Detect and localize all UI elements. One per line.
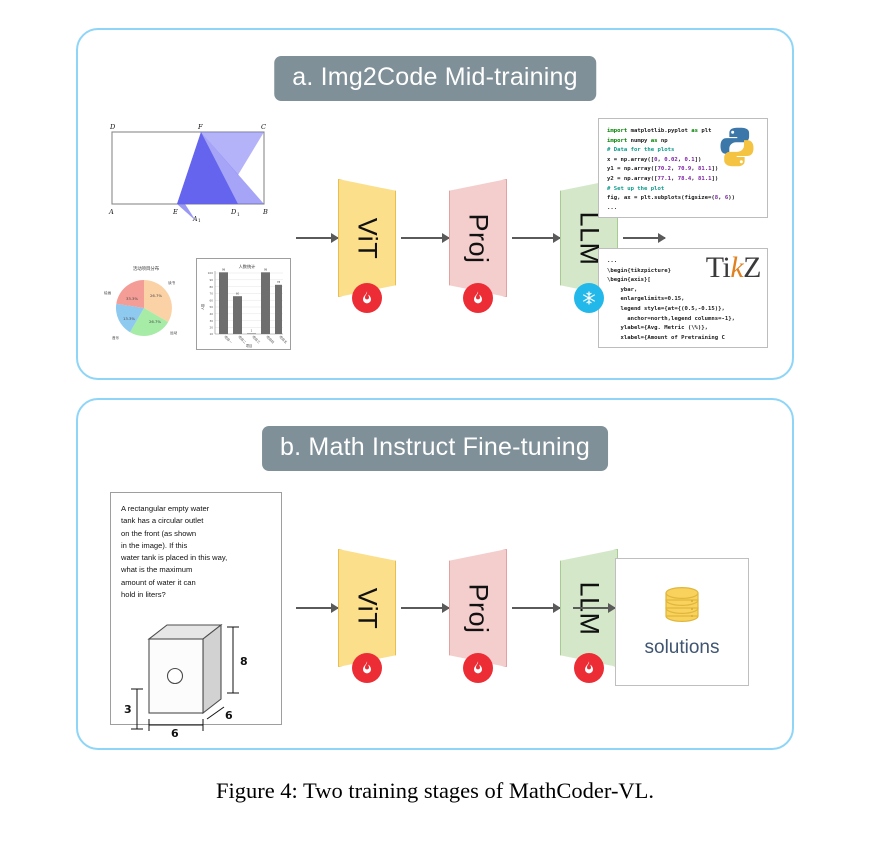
svg-text:98: 98 bbox=[222, 268, 226, 272]
svg-text:10: 10 bbox=[209, 332, 213, 336]
arrow-input-to-vit-b bbox=[296, 607, 338, 609]
block-proj-a: Proj bbox=[449, 179, 507, 297]
tikz-logo-icon: TikZ bbox=[706, 251, 761, 285]
fire-icon bbox=[352, 653, 382, 683]
bar-chart-svg: 人数统计 98 60 1 98 78 10 bbox=[197, 259, 290, 349]
svg-text:6: 6 bbox=[225, 709, 233, 722]
svg-text:绘画: 绘画 bbox=[104, 290, 112, 295]
svg-text:E: E bbox=[172, 208, 178, 216]
svg-text:6: 6 bbox=[171, 727, 179, 737]
python-logo-icon bbox=[715, 125, 759, 169]
svg-text:A: A bbox=[108, 208, 114, 216]
arrow-llm-to-output-a bbox=[623, 237, 665, 239]
svg-text:D: D bbox=[109, 123, 116, 131]
svg-text:项目五: 项目五 bbox=[278, 335, 288, 345]
svg-text:项目一: 项目一 bbox=[223, 335, 233, 345]
svg-text:1: 1 bbox=[198, 218, 201, 222]
svg-text:D: D bbox=[230, 208, 237, 216]
fire-glyph bbox=[359, 660, 375, 676]
snowflake-icon bbox=[574, 283, 604, 313]
svg-text:音乐: 音乐 bbox=[112, 335, 120, 340]
fire-icon bbox=[352, 283, 382, 313]
svg-text:98: 98 bbox=[264, 268, 268, 272]
svg-text:运动: 运动 bbox=[170, 330, 178, 335]
pie-chart: 活动项目分布 26.7% 26.7% 13.3% 33.3% 读书 运动 音乐 … bbox=[100, 258, 192, 350]
bar-chart: 人数统计 98 60 1 98 78 10 bbox=[196, 258, 291, 350]
panel-b-title: b. Math Instruct Fine-tuning bbox=[262, 426, 608, 471]
svg-text:人数: 人数 bbox=[200, 303, 205, 310]
arrow-proj-to-llm-b bbox=[512, 607, 560, 609]
figure-caption: Figure 4: Two training stages of MathCod… bbox=[0, 778, 870, 804]
svg-text:60: 60 bbox=[236, 291, 240, 295]
panel-a-title: a. Img2Code Mid-training bbox=[274, 56, 596, 101]
svg-text:8: 8 bbox=[240, 655, 248, 668]
svg-text:78: 78 bbox=[277, 280, 281, 284]
vit-label-b: ViT bbox=[338, 549, 396, 667]
solutions-output-box: solutions bbox=[615, 558, 749, 686]
svg-text:80: 80 bbox=[209, 285, 213, 289]
svg-text:C: C bbox=[261, 123, 266, 131]
geometry-diagram: D F C A E D 1 B A 1 bbox=[100, 120, 278, 222]
svg-text:70: 70 bbox=[209, 292, 213, 296]
svg-text:26.7%: 26.7% bbox=[150, 293, 162, 298]
arrow-input-to-vit-a bbox=[296, 237, 338, 239]
fire-glyph bbox=[359, 290, 375, 306]
math-question-text: A rectangular empty water tank has a cir… bbox=[121, 503, 273, 601]
tikz-code-card: TikZ ... \begin{tikzpicture} \begin{axis… bbox=[598, 248, 768, 348]
svg-text:50: 50 bbox=[209, 305, 213, 309]
svg-text:100: 100 bbox=[208, 271, 214, 275]
pie-chart-svg: 活动项目分布 26.7% 26.7% 13.3% 33.3% 读书 运动 音乐 … bbox=[100, 258, 192, 350]
solutions-label: solutions bbox=[645, 637, 720, 659]
water-tank-figure: 8 3 6 6 bbox=[121, 607, 271, 737]
svg-text:项目三: 项目三 bbox=[251, 335, 261, 345]
svg-text:人数统计: 人数统计 bbox=[239, 263, 256, 270]
svg-text:3: 3 bbox=[124, 703, 132, 716]
block-vit-a: ViT bbox=[338, 179, 396, 297]
svg-text:40: 40 bbox=[209, 312, 213, 316]
arrow-vit-to-proj-b bbox=[401, 607, 449, 609]
svg-text:B: B bbox=[262, 208, 268, 216]
svg-text:13.3%: 13.3% bbox=[123, 316, 135, 321]
snowflake-glyph bbox=[581, 290, 597, 306]
svg-text:项目: 项目 bbox=[246, 344, 252, 348]
database-icon bbox=[659, 586, 705, 630]
fire-glyph bbox=[581, 660, 597, 676]
math-question-card: A rectangular empty water tank has a cir… bbox=[110, 492, 282, 725]
svg-text:20: 20 bbox=[209, 326, 213, 330]
fire-icon bbox=[463, 653, 493, 683]
proj-label-a: Proj bbox=[449, 179, 507, 297]
svg-text:60: 60 bbox=[209, 298, 213, 302]
arrow-proj-to-llm-a bbox=[512, 237, 560, 239]
fire-glyph bbox=[470, 290, 486, 306]
fire-glyph bbox=[470, 660, 486, 676]
vit-label-a: ViT bbox=[338, 179, 396, 297]
python-code-card: import matplotlib.pyplot as plt import n… bbox=[598, 118, 768, 218]
fire-icon bbox=[574, 653, 604, 683]
svg-text:1: 1 bbox=[251, 329, 253, 333]
svg-text:30: 30 bbox=[209, 319, 213, 323]
geometry-svg: D F C A E D 1 B A 1 bbox=[100, 120, 278, 222]
svg-text:1: 1 bbox=[237, 213, 240, 218]
svg-text:26.7%: 26.7% bbox=[149, 319, 161, 324]
arrow-vit-to-proj-a bbox=[401, 237, 449, 239]
svg-text:活动项目分布: 活动项目分布 bbox=[133, 265, 160, 272]
svg-text:33.3%: 33.3% bbox=[126, 296, 138, 301]
arrow-llm-to-solutions-b bbox=[573, 607, 615, 609]
fire-icon bbox=[463, 283, 493, 313]
svg-text:F: F bbox=[197, 123, 203, 131]
block-proj-b: Proj bbox=[449, 549, 507, 667]
svg-text:90: 90 bbox=[209, 278, 213, 282]
block-vit-b: ViT bbox=[338, 549, 396, 667]
proj-label-b: Proj bbox=[449, 549, 507, 667]
svg-text:读书: 读书 bbox=[168, 280, 176, 285]
svg-text:项目四: 项目四 bbox=[265, 335, 275, 345]
